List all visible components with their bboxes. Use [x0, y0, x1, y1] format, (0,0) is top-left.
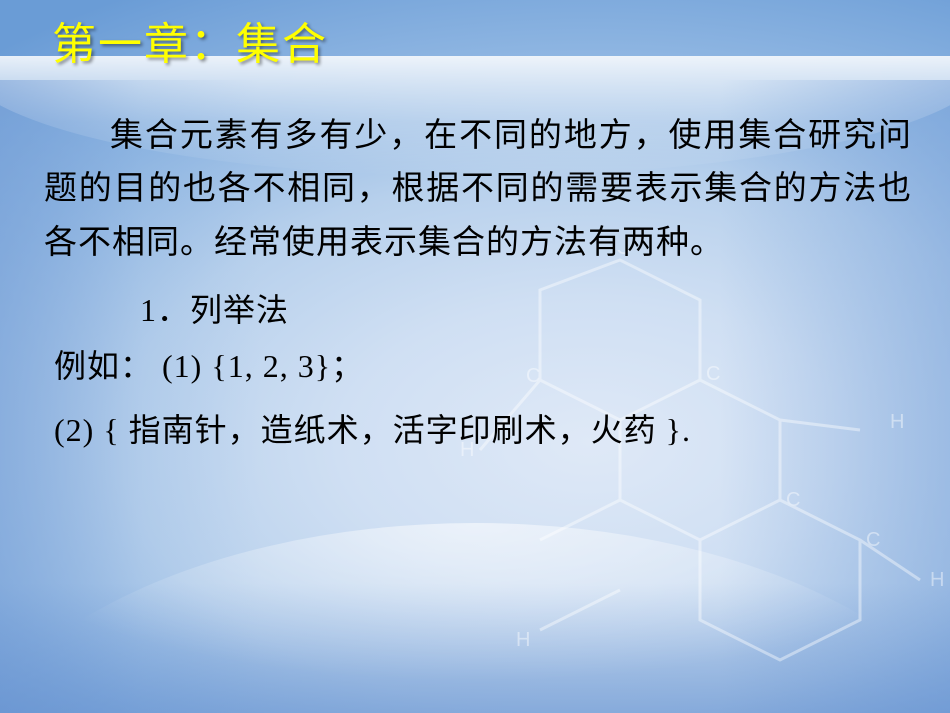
example-line-1: 例如： (1) {1, 2, 3}；: [44, 342, 912, 390]
example-line-2: (2) { 指南针，造纸术，活字印刷术，火药 }.: [54, 406, 912, 454]
example-label: 例如：: [54, 348, 153, 384]
slide-body: 集合元素有多有少，在不同的地方，使用集合研究问题的目的也各不相同，根据不同的需要…: [0, 110, 950, 454]
title-bar: 第一章：集合: [0, 0, 950, 86]
list-item-enumeration-method: 1．列举法: [44, 286, 912, 334]
paragraph-intro: 集合元素有多有少，在不同的地方，使用集合研究问题的目的也各不相同，根据不同的需要…: [44, 110, 912, 270]
example-value-1: (1) {1, 2, 3}；: [162, 348, 364, 384]
page-title: 第一章：集合: [52, 8, 328, 72]
slide: C C C C C H H H H 第一章：集合 集合元素有多有少，在不同的地方…: [0, 0, 950, 713]
